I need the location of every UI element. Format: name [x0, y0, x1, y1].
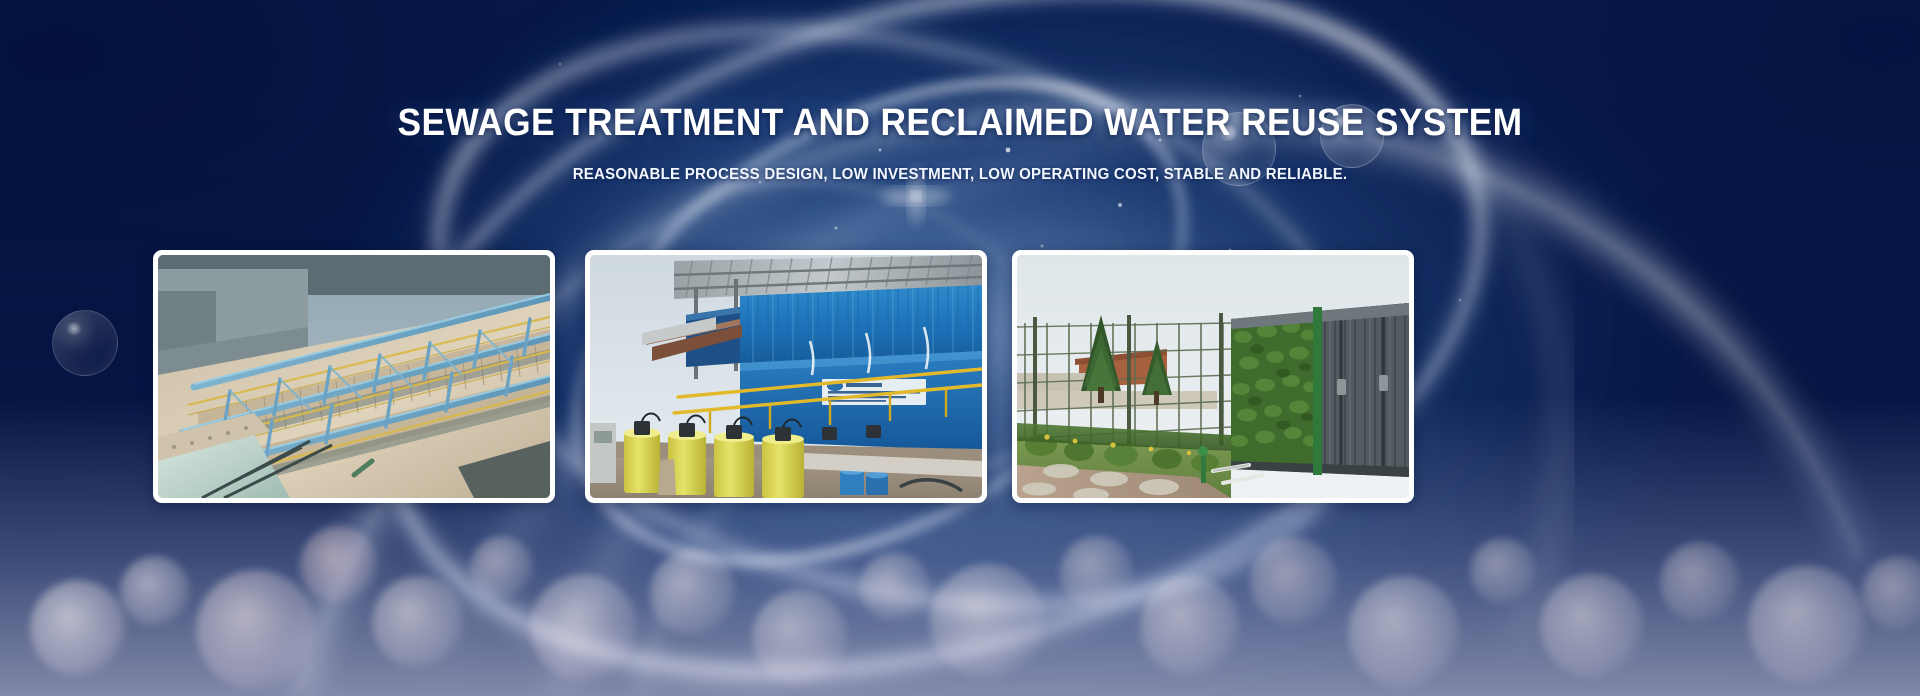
page-subtitle: REASONABLE PROCESS DESIGN, LOW INVESTMEN…: [58, 164, 1863, 186]
hero-banner: SEWAGE TREATMENT AND RECLAIMED WATER REU…: [0, 0, 1920, 696]
glass-bubble-small-right: [1320, 104, 1384, 168]
page-title: SEWAGE TREATMENT AND RECLAIMED WATER REU…: [67, 101, 1853, 145]
glass-bubble-large-right: [1202, 112, 1276, 186]
image-gallery: [153, 250, 1415, 505]
gallery-card-3[interactable]: [1012, 250, 1414, 503]
gallery-card-1[interactable]: [153, 250, 555, 503]
glass-bubble-left: [52, 310, 118, 376]
gallery-card-2[interactable]: [585, 250, 987, 503]
integrated-equipment-photo: [590, 255, 982, 498]
sedimentation-tanks-photo: [158, 255, 550, 498]
container-plant-photo: [1017, 255, 1409, 498]
